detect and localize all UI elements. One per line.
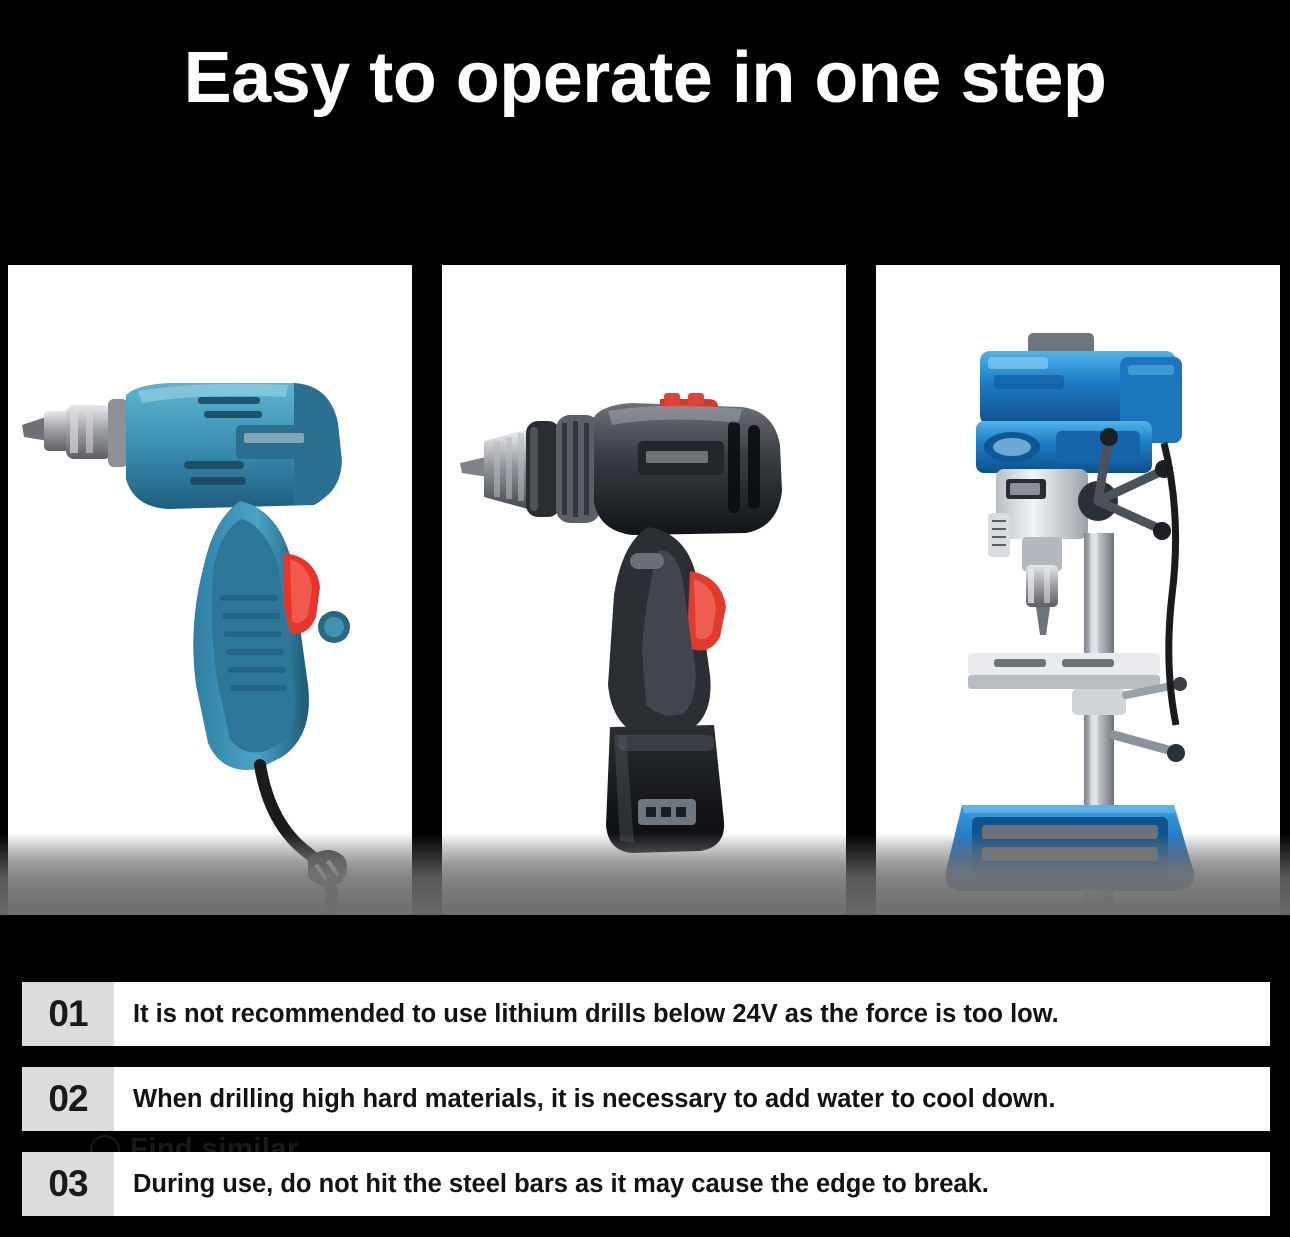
note-row: 03 During use, do not hit the steel bars…	[22, 1152, 1270, 1216]
title-bar: Easy to operate in one step	[0, 0, 1290, 265]
photo-bench-drill-press	[876, 265, 1280, 915]
photo-bottom-shade	[8, 833, 412, 915]
note-number: 01	[22, 982, 114, 1046]
note-row: 02 When drilling high hard materials, it…	[22, 1067, 1270, 1131]
corded-drill-illustration	[8, 265, 412, 915]
page-title: Easy to operate in one step	[0, 42, 1290, 114]
note-text: During use, do not hit the steel bars as…	[119, 1152, 1270, 1216]
photo-corded-electric-drill	[8, 265, 412, 915]
photo-strip	[0, 265, 1290, 915]
promo-image: Easy to operate in one step	[0, 0, 1290, 1237]
note-text: It is not recommended to use lithium dri…	[119, 982, 1270, 1046]
cordless-drill-illustration	[442, 265, 846, 915]
photo-bottom-shade	[876, 833, 1280, 915]
notes-section: Find similar 01 It is not recommended to…	[0, 915, 1290, 1237]
photo-cordless-lithium-drill	[442, 265, 846, 915]
note-number: 03	[22, 1152, 114, 1216]
photo-bottom-shade	[442, 833, 846, 915]
note-row: 01 It is not recommended to use lithium …	[22, 982, 1270, 1046]
drill-press-illustration	[876, 265, 1280, 915]
note-text: When drilling high hard materials, it is…	[119, 1067, 1270, 1131]
note-number: 02	[22, 1067, 114, 1131]
